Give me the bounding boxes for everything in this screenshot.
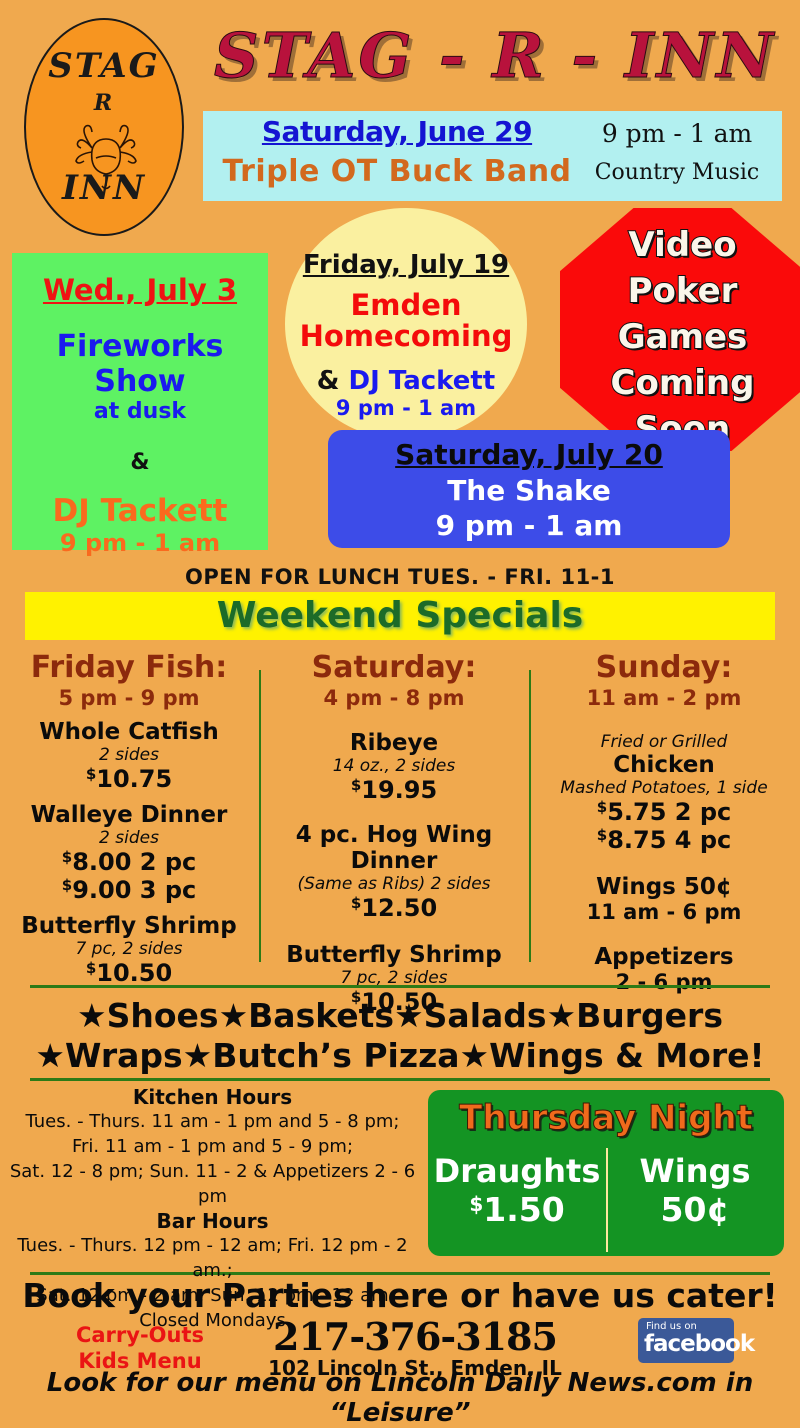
event-july19-dj-prefix: & xyxy=(317,366,349,396)
thursday-night-columns: Draughts $1.50 Wings 50¢ xyxy=(428,1152,784,1252)
event-card-july19: Friday, July 19 Emden Homecoming & DJ Ta… xyxy=(285,208,527,440)
promo-line-1: Video xyxy=(560,222,800,268)
event-card-july3: Wed., July 3 Fireworks Show at dusk & DJ… xyxy=(12,253,268,550)
menu-highlights: ★Shoes★Baskets★Salads★Burgers ★Wraps★But… xyxy=(0,996,800,1076)
specials-day-hours: 4 pm - 8 pm xyxy=(265,686,523,710)
specials-column-friday: Friday Fish: 5 pm - 9 pm Whole Catfish 2… xyxy=(0,650,258,987)
event-july19-time: 9 pm - 1 am xyxy=(285,396,527,420)
column-divider xyxy=(259,670,261,962)
specials-day-hours: 5 pm - 9 pm xyxy=(0,686,258,710)
event-july3-time: 9 pm - 1 am xyxy=(12,529,268,557)
featured-event-time: 9 pm - 1 am xyxy=(577,115,777,148)
specials-item-price: $10.75 xyxy=(0,765,258,793)
specials-item-name: Chicken xyxy=(535,752,793,778)
menu-highlights-line-1: ★Shoes★Baskets★Salads★Burgers xyxy=(0,996,800,1036)
specials-item: Ribeye 14 oz., 2 sides $19.95 xyxy=(265,730,523,804)
kitchen-hours-line: Tues. - Thurs. 11 am - 1 pm and 5 - 8 pm… xyxy=(0,1109,425,1134)
featured-event-genre: Country Music xyxy=(577,148,777,185)
menu-highlights-line-2: ★Wraps★Butch’s Pizza★Wings & More! xyxy=(0,1036,800,1076)
kitchen-hours-line: Sat. 12 - 8 pm; Sun. 11 - 2 & Appetizers… xyxy=(0,1159,425,1209)
specials-item-note: Appetizers xyxy=(535,944,793,970)
specials-day-title: Sunday: xyxy=(535,650,793,685)
featured-event-band: Saturday, June 29 Triple OT Buck Band 9 … xyxy=(203,111,782,201)
event-july19-name-line2: Homecoming xyxy=(285,320,527,352)
specials-item: 4 pc. Hog Wing Dinner (Same as Ribs) 2 s… xyxy=(265,822,523,922)
logo-oval: STAG R INN xyxy=(24,18,184,236)
specials-item-price: $8.00 2 pc xyxy=(0,848,258,876)
booking-line: Book your Parties here or have us cater! xyxy=(0,1276,800,1315)
promo-line-2: Poker xyxy=(560,268,800,314)
thursday-item-label: Wings xyxy=(610,1152,780,1190)
event-july3-show: Fireworks Show xyxy=(12,329,268,399)
specials-item-price: $19.95 xyxy=(265,776,523,804)
event-july19-dj-name: DJ Tackett xyxy=(349,366,496,396)
bar-hours-title: Bar Hours xyxy=(0,1209,425,1233)
specials-day-hours: 11 am - 2 pm xyxy=(535,686,793,710)
event-july19-date: Friday, July 19 xyxy=(285,250,527,280)
featured-event-band-name: Triple OT Buck Band xyxy=(217,154,577,189)
specials-item-desc: (Same as Ribs) 2 sides xyxy=(265,874,523,894)
specials-item-name: Butterfly Shrimp xyxy=(265,942,523,968)
menu-tagline: Look for our menu on Lincoln Daily News.… xyxy=(0,1368,800,1428)
specials-item: Wings 50¢ 11 am - 6 pm xyxy=(535,874,793,924)
specials-item-note-sub: 2 - 6 pm xyxy=(535,970,793,994)
lunch-hours-line: OPEN FOR LUNCH TUES. - FRI. 11-1 xyxy=(0,565,800,589)
thursday-column-draughts: Draughts $1.50 xyxy=(432,1152,602,1229)
facebook-badge[interactable]: Find us on facebook xyxy=(638,1318,734,1363)
kitchen-hours-line: Fri. 11 am - 1 pm and 5 - 9 pm; xyxy=(0,1134,425,1159)
specials-item-desc: 2 sides xyxy=(0,828,258,848)
event-july3-ampersand: & xyxy=(12,450,268,475)
weekend-specials-banner: Weekend Specials xyxy=(25,592,775,640)
thursday-night-special: Thursday Night Draughts $1.50 Wings 50¢ xyxy=(428,1090,784,1256)
thursday-column-wings: Wings 50¢ xyxy=(610,1152,780,1229)
specials-item: Butterfly Shrimp 7 pc, 2 sides $10.50 xyxy=(0,913,258,987)
specials-item: Fried or Grilled Chicken Mashed Potatoes… xyxy=(535,732,793,854)
specials-item-name: Butterfly Shrimp xyxy=(0,913,258,939)
specials-item-name: Ribeye xyxy=(265,730,523,756)
specials-item-note-sub: 11 am - 6 pm xyxy=(535,900,793,924)
featured-event-left: Saturday, June 29 Triple OT Buck Band xyxy=(217,115,577,189)
specials-item-name: Walleye Dinner xyxy=(0,802,258,828)
facebook-badge-wordmark: facebook xyxy=(638,1332,734,1357)
video-poker-promo: Video Poker Games Coming Soon xyxy=(560,208,800,451)
thursday-item-price: $1.50 xyxy=(432,1190,602,1229)
weekend-specials-title: Weekend Specials xyxy=(25,592,775,640)
event-july20-time: 9 pm - 1 am xyxy=(328,509,730,542)
specials-item: Walleye Dinner 2 sides $8.00 2 pc $9.00 … xyxy=(0,802,258,904)
promo-line-3: Games xyxy=(560,314,800,360)
thursday-item-price: 50¢ xyxy=(610,1190,780,1229)
section-divider xyxy=(30,1078,770,1081)
event-july3-dj: DJ Tackett xyxy=(12,493,268,529)
thursday-item-label: Draughts xyxy=(432,1152,602,1190)
event-july20-date: Saturday, July 20 xyxy=(328,438,730,471)
carryouts-block: Carry-Outs Kids Menu xyxy=(40,1322,240,1374)
kitchen-hours-title: Kitchen Hours xyxy=(0,1085,425,1109)
logo-text-inn: INN xyxy=(26,168,182,208)
event-july19-name-line1: Emden xyxy=(285,290,527,320)
event-july3-show-sub: at dusk xyxy=(12,399,268,424)
specials-item-desc: 14 oz., 2 sides xyxy=(265,756,523,776)
specials-item-name: Whole Catfish xyxy=(0,719,258,745)
specials-item-pre: Fried or Grilled xyxy=(535,732,793,752)
specials-item-desc: Mashed Potatoes, 1 side xyxy=(535,778,793,798)
column-divider xyxy=(529,670,531,962)
featured-event-date: Saturday, June 29 xyxy=(217,115,577,148)
phone-number[interactable]: 217-376-3185 xyxy=(240,1314,590,1359)
specials-column-saturday: Saturday: 4 pm - 8 pm Ribeye 14 oz., 2 s… xyxy=(265,650,523,1016)
event-july20-band: The Shake xyxy=(328,474,730,507)
specials-item-note: Wings 50¢ xyxy=(535,874,793,900)
specials-day-title: Saturday: xyxy=(265,650,523,685)
thursday-night-title: Thursday Night xyxy=(428,1098,784,1138)
specials-item-name: 4 pc. Hog Wing Dinner xyxy=(265,822,523,874)
featured-event-right: 9 pm - 1 am Country Music xyxy=(577,115,777,185)
logo-text-stag: STAG xyxy=(26,46,182,86)
event-card-july20: Saturday, July 20 The Shake 9 pm - 1 am xyxy=(328,430,730,548)
specials-item-price: $8.75 4 pc xyxy=(535,826,793,854)
weekend-specials-columns: Friday Fish: 5 pm - 9 pm Whole Catfish 2… xyxy=(0,650,800,962)
specials-item-desc: 2 sides xyxy=(0,745,258,765)
event-july3-date: Wed., July 3 xyxy=(12,273,268,307)
specials-column-sunday: Sunday: 11 am - 2 pm Fried or Grilled Ch… xyxy=(535,650,793,994)
carryouts-line-1: Carry-Outs xyxy=(40,1322,240,1348)
facebook-badge-top-text: Find us on xyxy=(638,1318,734,1332)
flyer-canvas: STAG R INN STAG - R - INN Saturday, June… xyxy=(0,0,800,1400)
thursday-column-divider xyxy=(606,1148,608,1252)
specials-item-price: $5.75 2 pc xyxy=(535,798,793,826)
event-july19-dj: & DJ Tackett xyxy=(285,366,527,396)
specials-day-title: Friday Fish: xyxy=(0,650,258,685)
specials-item-price: $10.50 xyxy=(0,959,258,987)
specials-item-desc: 7 pc, 2 sides xyxy=(0,939,258,959)
specials-item: Whole Catfish 2 sides $10.75 xyxy=(0,719,258,793)
specials-item-price: $12.50 xyxy=(265,894,523,922)
page-title: STAG - R - INN xyxy=(190,10,800,102)
section-divider xyxy=(30,985,770,988)
specials-item-price: $9.00 3 pc xyxy=(0,876,258,904)
